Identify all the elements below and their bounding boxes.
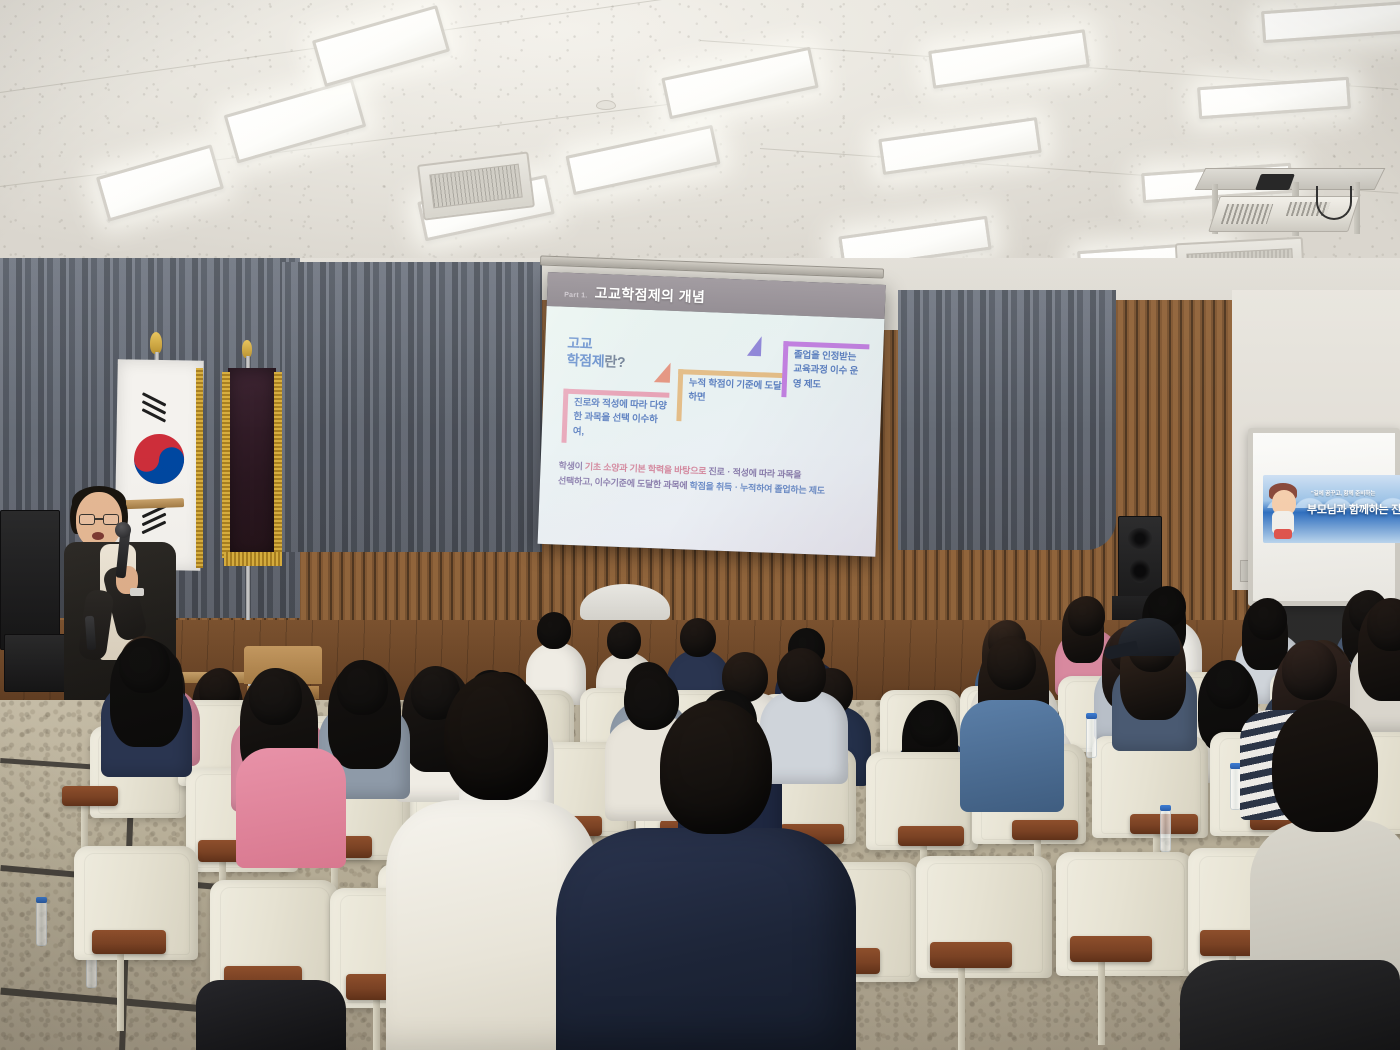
armrest-post [958, 968, 965, 1050]
slide-title: 고교학점제의 개념 [594, 283, 705, 307]
projector-lens-housing [1255, 174, 1295, 190]
denim-jacket-torso [960, 700, 1064, 812]
slide-summary: 학생이 기초 소양과 기본 학력을 바탕으로 진로ㆍ적성에 따라 과목을 선택하… [558, 459, 871, 500]
triangle-accent-salmon [654, 362, 671, 383]
audience-head [537, 612, 571, 649]
loudspeaker-base-left [4, 634, 66, 692]
bottle-cap [1160, 805, 1171, 811]
seat-armrest[interactable] [898, 826, 964, 846]
triangle-accent-purple [747, 336, 762, 357]
summary-part-2: 기초 소양과 기본 학력을 바탕으로 [585, 462, 707, 477]
summary-part-4: 선택하고, 이수기준에 도달한 과목에 [558, 475, 690, 490]
banner-kid-shorts [1274, 529, 1292, 539]
seat-armrest[interactable] [930, 942, 1012, 968]
water-bottle [36, 902, 47, 946]
pink-sweater-torso [236, 748, 346, 868]
loudspeaker-left [0, 510, 60, 650]
bag-dark [196, 980, 346, 1050]
seat-armrest[interactable] [1012, 820, 1078, 840]
event-banner: "길에 꿈꾸고, 함께 준비하는 부모님과 함께하는 진로 [1263, 475, 1400, 543]
slide-block-pink: 진로와 적성에 따라 다양한 과목을 선택 이수하여, [561, 389, 669, 447]
school-flag [228, 368, 276, 558]
audience-head [987, 636, 1037, 690]
front-row-person-torso [556, 828, 856, 1050]
audience-head [909, 700, 952, 747]
slide-part-label: Part 1. [564, 292, 588, 300]
projection-screen: Part 1. 고교학점제의 개념 고교 학점제란? 진로와 적성에 따라 다양… [538, 272, 886, 557]
front-row-person-head [1272, 700, 1378, 832]
curtain-right [898, 290, 1116, 550]
audience-torso [760, 691, 849, 784]
banner-title: 부모님과 함께하는 진로 [1307, 501, 1400, 517]
audience-head [1206, 660, 1251, 709]
slide-block-purple-text: 졸업을 인정받는 교육과정 이수 운영 제도 [793, 349, 868, 395]
audience-member [108, 638, 185, 770]
front-row-person-head [444, 672, 548, 800]
slide-heading-line1: 고교 [567, 335, 593, 352]
slide-block-orange-text: 누적 학점이 기준에 도달하면 [688, 376, 782, 408]
whiteboard: "길에 꿈꾸고, 함께 준비하는 부모님과 함께하는 진로 [1248, 428, 1400, 606]
flag-fringe [222, 372, 230, 558]
armrest-post [1098, 962, 1105, 1045]
glasses-icon [79, 514, 119, 525]
audience-head [624, 670, 679, 730]
slide-heading-suffix: 란? [604, 353, 625, 370]
armrest-post [373, 1000, 380, 1050]
curtain-left-inner [282, 262, 542, 552]
slide-block-pink-text: 진로와 적성에 따라 다양한 과목을 선택 이수하여, [573, 396, 668, 442]
seat-armrest[interactable] [92, 930, 166, 954]
summary-part-1: 학생이 [558, 461, 585, 472]
bag-dark [1180, 960, 1400, 1050]
armrest-post [117, 954, 124, 1031]
audience-member [766, 648, 842, 778]
flag-fringe-bottom [224, 552, 282, 566]
summary-part-3: 진로ㆍ적성에 따라 과목을 [706, 466, 801, 480]
slide-block-purple: 졸업을 인정받는 교육과정 이수 운영 제도 [781, 341, 869, 400]
banner-subtitle: "길에 꿈꾸고, 함께 준비하는 [1311, 489, 1375, 497]
slide-body: 고교 학점제란? 진로와 적성에 따라 다양한 과목을 선택 이수하여, 누적 … [538, 306, 885, 557]
flag-fringe [196, 368, 203, 568]
ceiling-projector [1196, 168, 1392, 260]
smoke-detector-icon [596, 100, 616, 110]
audience-member [1356, 598, 1400, 725]
flag-finial-icon [150, 332, 162, 354]
audience-head [777, 648, 827, 702]
slide-block-orange: 누적 학점이 기준에 도달하면 [676, 369, 784, 425]
auditorium-scene: Part 1. 고교학점제의 개념 고교 학점제란? 진로와 적성에 따라 다양… [0, 0, 1400, 1050]
slide-heading: 고교 학점제란? [566, 335, 626, 371]
water-bottle [1160, 810, 1171, 852]
audience-head [1248, 598, 1287, 640]
summary-part-5: 학점을 취득ㆍ누적하여 졸업하는 제도 [689, 480, 825, 495]
projector-vent [1221, 204, 1273, 224]
slide-heading-line2: 학점제 [566, 352, 604, 369]
flag-fringe [274, 372, 282, 558]
banner-illustration [1267, 483, 1303, 539]
wristwatch-icon [130, 588, 144, 596]
audience-head [1282, 640, 1337, 700]
water-bottle [1086, 718, 1097, 758]
presenter-mouth [92, 532, 104, 540]
audience-head [680, 618, 716, 657]
audience-head [249, 668, 301, 725]
seat-armrest[interactable] [1070, 936, 1152, 962]
audience-head [337, 660, 388, 715]
audience-head [119, 638, 170, 693]
audience-head [607, 622, 641, 659]
microphone-head-icon [115, 522, 131, 538]
seat-armrest[interactable] [62, 786, 118, 806]
front-row-person-head [660, 700, 772, 834]
bottle-cap [1086, 713, 1097, 719]
